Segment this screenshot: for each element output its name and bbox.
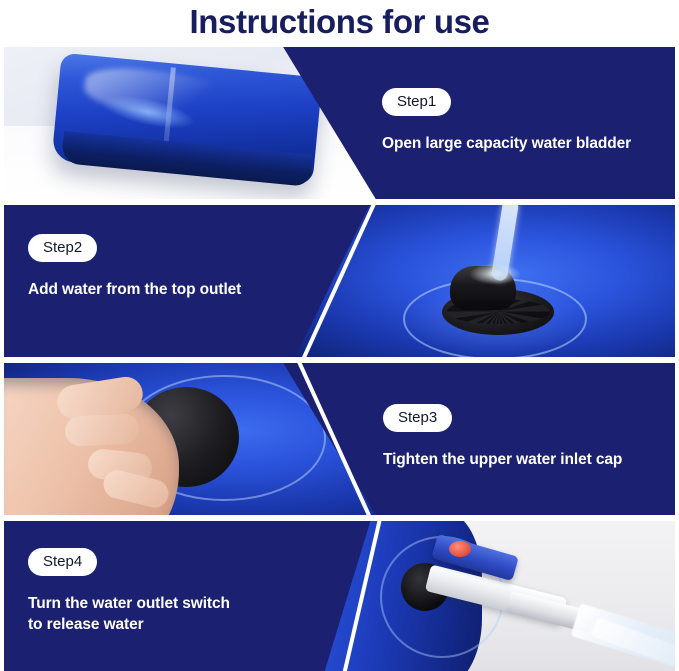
instructions-infographic: Instructions for use Step1 Open large ca… [0,0,679,671]
step-row-3: Step3 Tighten the upper water inlet cap [4,363,675,515]
step-block-3: Step3 Tighten the upper water inlet cap [383,404,622,470]
step-badge-4: Step4 [28,548,97,576]
step-row-2: Step2 Add water from the top outlet [4,205,675,357]
step-caption-2: Add water from the top outlet [28,279,241,300]
page-title: Instructions for use [0,0,679,46]
step-row-1: Step1 Open large capacity water bladder [4,47,675,199]
step-badge-1: Step1 [382,88,451,116]
step-caption-3: Tighten the upper water inlet cap [383,449,622,470]
step-caption-1: Open large capacity water bladder [382,133,631,154]
step-block-2: Step2 Add water from the top outlet [28,234,241,300]
step-caption-4: Turn the water outlet switch to release … [28,593,230,636]
step-row-4: Step4 Turn the water outlet switch to re… [4,521,675,671]
step-block-1: Step1 Open large capacity water bladder [382,88,631,154]
photo-valve-releasing-water [324,521,675,671]
step-badge-2: Step2 [28,234,97,262]
valve-handle-cap [449,541,471,557]
finger-middle [64,413,139,447]
step-badge-3: Step3 [383,404,452,432]
step-block-4: Step4 Turn the water outlet switch to re… [28,548,230,636]
